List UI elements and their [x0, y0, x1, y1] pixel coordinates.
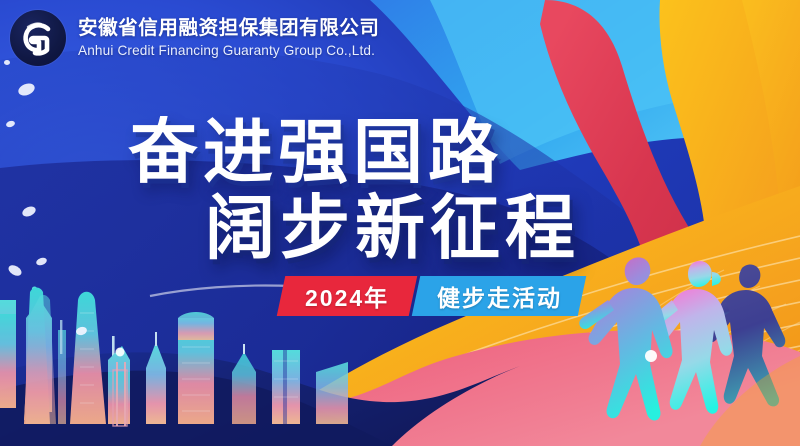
- decor-dot: [75, 326, 88, 337]
- promo-banner: 安徽省信用融资担保集团有限公司 Anhui Credit Financing G…: [0, 0, 800, 446]
- brand-header: 安徽省信用融资担保集团有限公司 Anhui Credit Financing G…: [10, 10, 380, 66]
- company-name-en: Anhui Credit Financing Guaranty Group Co…: [78, 43, 380, 58]
- company-name-cn: 安徽省信用融资担保集团有限公司: [78, 18, 380, 40]
- subtitle-year-ribbon: 2024年: [277, 276, 418, 316]
- decor-dot: [35, 256, 48, 266]
- decor-dot-layer: [0, 0, 800, 446]
- subtitle-ribbons: 2024年 健步走活动: [281, 276, 582, 316]
- subtitle-event-text: 健步走活动: [437, 279, 562, 313]
- decor-dot: [21, 205, 37, 219]
- decor-dot: [5, 120, 15, 128]
- company-monogram-g-icon: [10, 10, 66, 66]
- company-name-block: 安徽省信用融资担保集团有限公司 Anhui Credit Financing G…: [78, 18, 380, 58]
- decor-dot: [7, 263, 24, 278]
- subtitle-event-ribbon: 健步走活动: [412, 276, 587, 316]
- subtitle-year-text: 2024年: [305, 279, 389, 313]
- decor-dot: [17, 81, 37, 98]
